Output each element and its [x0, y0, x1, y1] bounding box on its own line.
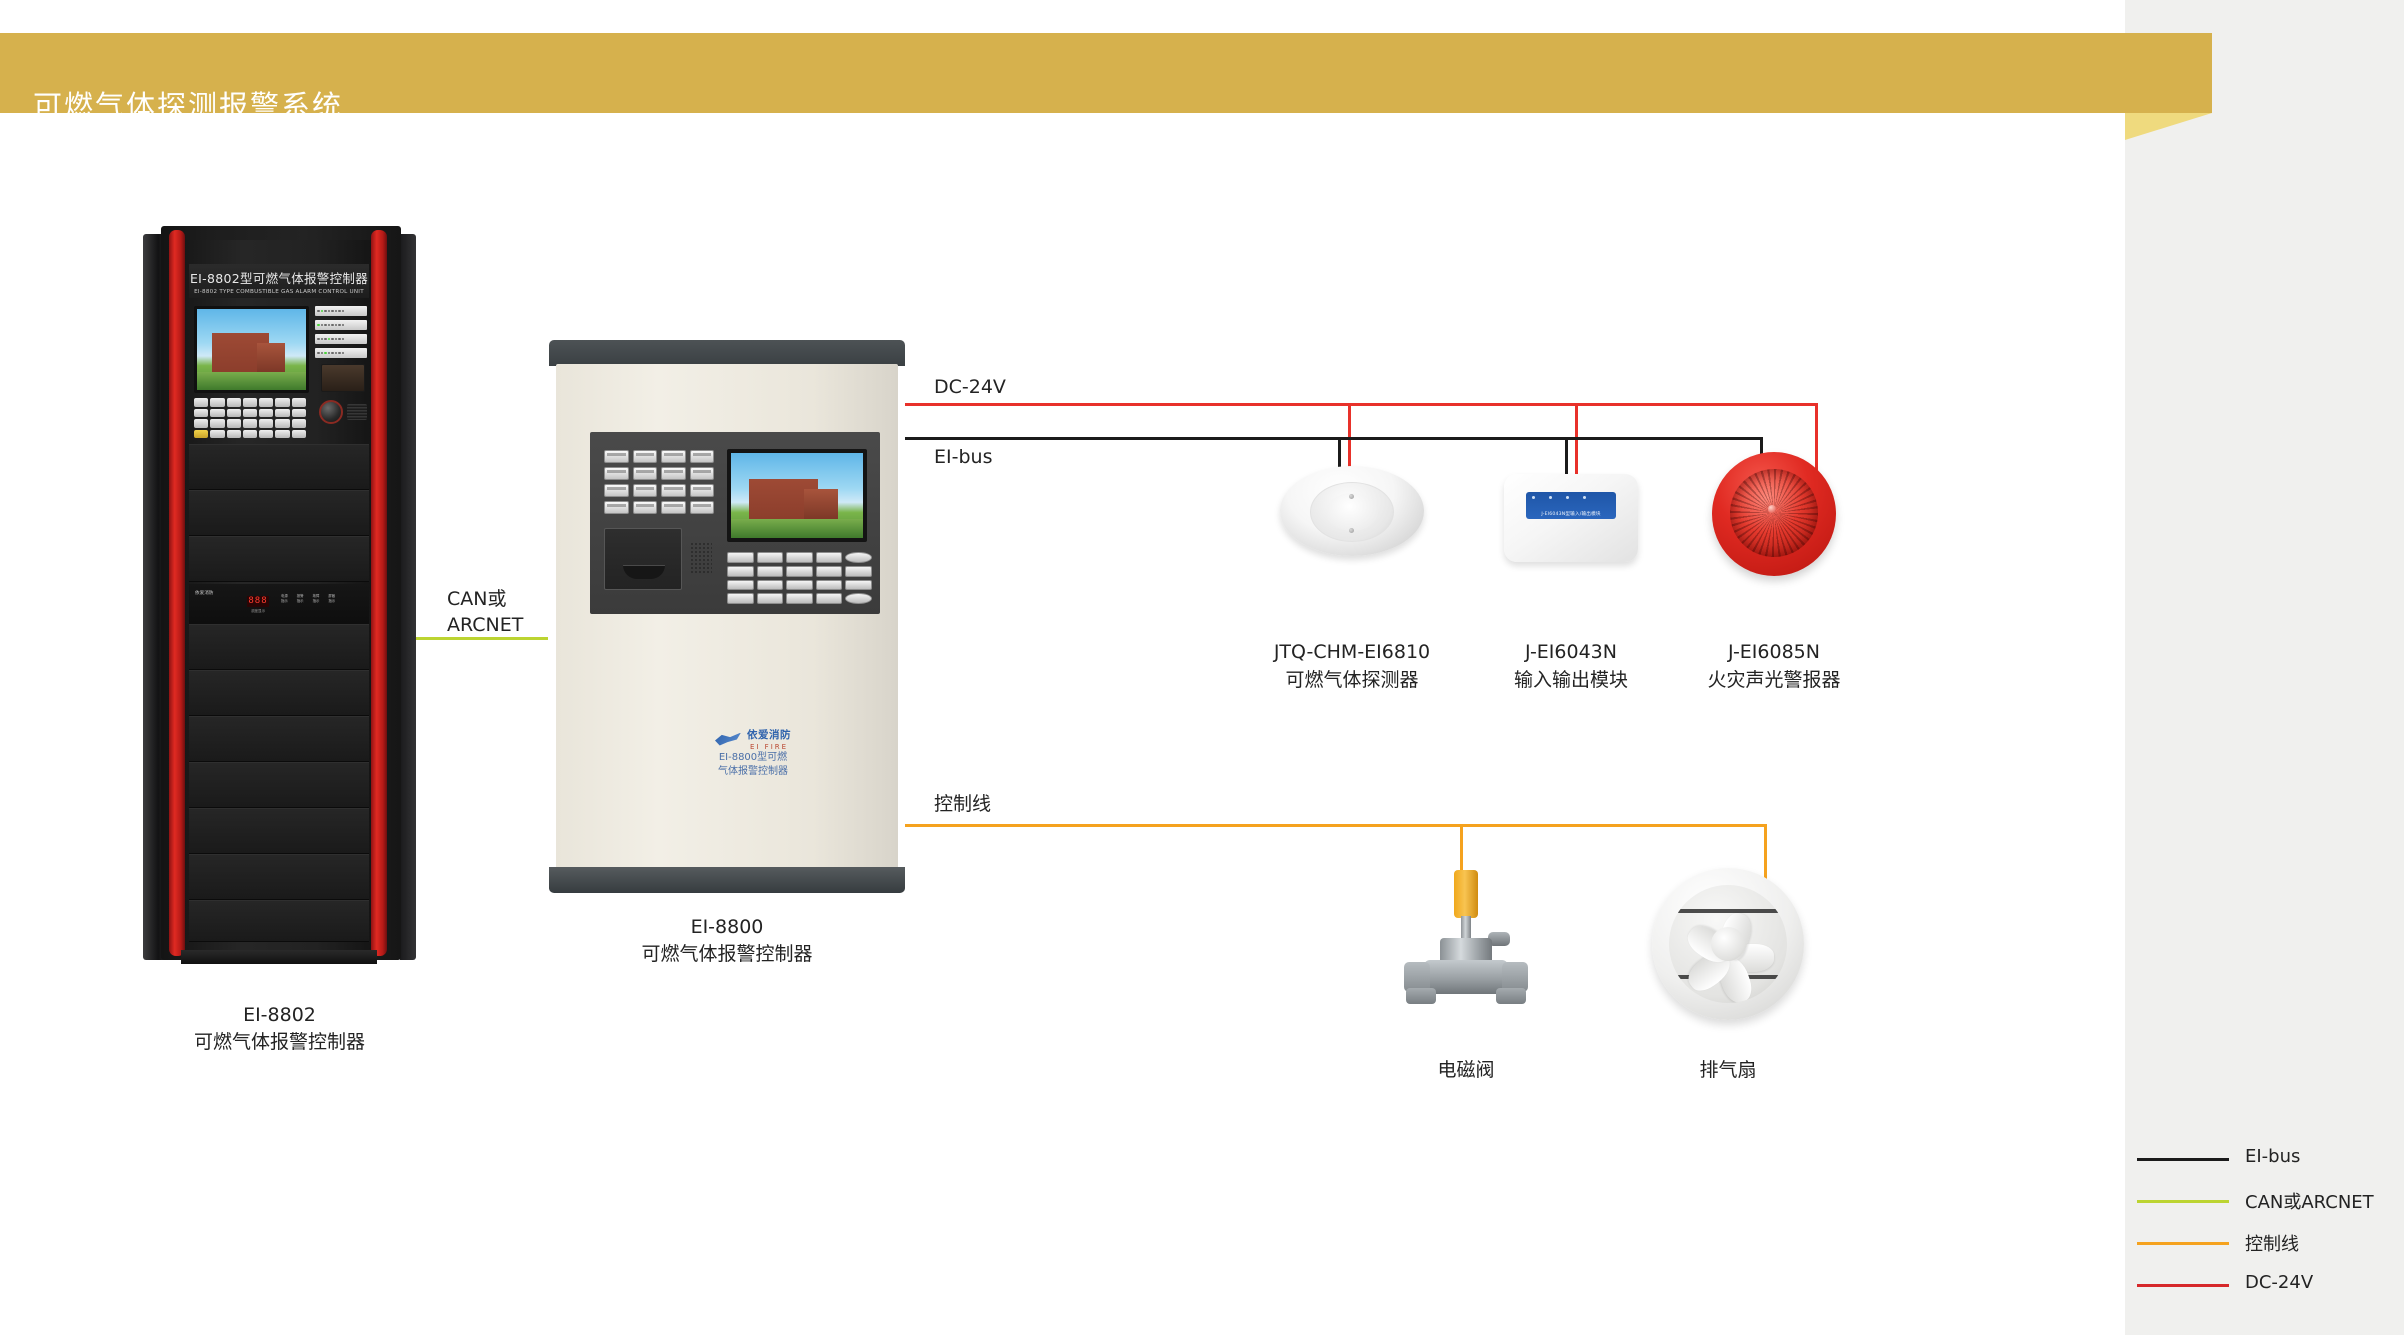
device-solenoid-valve[interactable] — [1398, 870, 1534, 1016]
banner-fold — [2125, 113, 2212, 140]
legend-item-control: 控制线 — [2137, 1224, 2387, 1266]
alarm-lens-center — [1768, 505, 1776, 513]
legend-label-eibus: EI-bus — [2245, 1146, 2300, 1167]
io-module-label: J-EI6043N型输入/输出模块 — [1526, 492, 1616, 519]
wire-label-eibus: EI-bus — [934, 444, 992, 470]
cabinet-indicator-panel — [315, 306, 367, 358]
fan-hub — [1711, 927, 1745, 961]
cabinet-blank-panels — [189, 444, 369, 942]
lcd-grass — [731, 519, 863, 538]
lcd-building-secondary — [804, 489, 838, 520]
unit-model-line2: 气体报警控制器 — [688, 765, 818, 779]
legend-swatch-control — [2137, 1242, 2229, 1245]
unit-zone-button-matrix[interactable] — [604, 450, 714, 514]
valve-foot — [1406, 988, 1436, 1004]
unit-printer[interactable] — [604, 528, 682, 590]
label-ei8800-name: 可燃气体报警控制器 — [546, 939, 908, 970]
unit-model-line1: EI-8800型可燃 — [688, 751, 818, 765]
label-ei8802-name: 可燃气体报警控制器 — [143, 1027, 416, 1058]
device-exhaust-fan[interactable] — [1652, 868, 1804, 1020]
brand-name-en: EI FIRE — [747, 743, 791, 751]
device-ei8802-cabinet[interactable]: EI-8802型可燃气体报警控制器 EI-8802 TYPE COMBUSTIB… — [143, 226, 416, 964]
legend-label-control: 控制线 — [2245, 1230, 2299, 1256]
cabinet-red-strip-left — [169, 230, 185, 956]
diagram-canvas: 可燃气体探测报警系统 EI-8802型可燃气体报警控制器 EI-8802 TYP… — [0, 0, 2404, 1335]
device-gas-detector[interactable] — [1280, 466, 1424, 562]
cabinet-nameplate-en: EI-8802 TYPE COMBUSTIBLE GAS ALARM CONTR… — [194, 289, 364, 295]
legend-swatch-dc24v — [2137, 1284, 2229, 1287]
indicator-row — [315, 334, 367, 344]
legend-item-eibus: EI-bus — [2137, 1140, 2387, 1182]
detector-screw — [1349, 528, 1354, 533]
segment-display-caption: 浓度显示 — [247, 609, 269, 614]
device-io-module[interactable]: J-EI6043N型输入/输出模块 — [1504, 474, 1638, 562]
valve-foot — [1496, 988, 1526, 1004]
legend-item-can-arcnet: CAN或ARCNET — [2137, 1182, 2387, 1224]
lcd-grass — [197, 372, 306, 390]
unit-brand-logo: 依爱消防 EI FIRE EI-8800型可燃 气体报警控制器 — [688, 727, 818, 779]
header-banner: 可燃气体探测报警系统 — [0, 33, 2212, 113]
lcd-image — [731, 453, 863, 538]
detector-screw — [1349, 494, 1354, 499]
label-gas-detector-model: JTQ-CHM-EI6810 — [1232, 637, 1472, 668]
cabinet-red-strip-right — [371, 230, 387, 956]
label-alarm-model: J-EI6085N — [1654, 637, 1894, 668]
page-title: 可燃气体探测报警系统 — [33, 83, 343, 125]
unit-top-cap — [549, 340, 905, 366]
wire-label-dc24v: DC-24V — [934, 374, 1006, 400]
label-solenoid-valve: 电磁阀 — [1346, 1055, 1586, 1086]
cabinet-concentration-display: 依爱消防 888 浓度显示 电源指示 报警指示 故障指示 屏蔽指示 — [189, 584, 369, 624]
ei-fire-logo-icon — [715, 733, 741, 746]
wire-eibus-trunk — [905, 437, 1762, 440]
indicator-row — [315, 348, 367, 358]
printer-slot — [623, 565, 665, 579]
fan-inner — [1669, 885, 1787, 1003]
io-module-indicators — [1532, 496, 1586, 499]
legend-item-dc24v: DC-24V — [2137, 1266, 2387, 1308]
cabinet-side-logo: 依爱消防 — [195, 590, 213, 596]
cabinet-nameplate: EI-8802型可燃气体报警控制器 EI-8802 TYPE COMBUSTIB… — [189, 264, 369, 298]
speaker-grille-icon — [347, 404, 367, 420]
wire-label-can-line1: CAN或 — [447, 586, 506, 612]
unit-control-panel[interactable] — [590, 432, 880, 614]
unit-keypad[interactable] — [727, 552, 872, 604]
legend-swatch-can-arcnet — [2137, 1200, 2229, 1203]
cabinet-keypad[interactable] — [194, 398, 306, 438]
cabinet-rotary-knob[interactable] — [319, 400, 343, 424]
cabinet-nameplate-cn: EI-8802型可燃气体报警控制器 — [190, 268, 368, 287]
valve-coil — [1454, 870, 1478, 918]
alarm-lens — [1730, 469, 1818, 557]
legend-label-dc24v: DC-24V — [2245, 1272, 2313, 1293]
unit-lcd-screen[interactable] — [727, 449, 867, 542]
label-exhaust-fan: 排气扇 — [1608, 1055, 1848, 1086]
cabinet-led-group: 电源指示 报警指示 故障指示 屏蔽指示 — [281, 594, 335, 604]
cabinet-base — [181, 950, 377, 964]
cabinet-lcd-screen[interactable] — [194, 306, 309, 393]
legend-label-can-arcnet: CAN或ARCNET — [2245, 1188, 2374, 1214]
lcd-image — [197, 309, 306, 390]
legend: EI-bus CAN或ARCNET 控制线 DC-24V — [2137, 1140, 2387, 1308]
wire-label-control: 控制线 — [934, 791, 991, 817]
wire-label-can-line2: ARCNET — [447, 612, 523, 638]
cabinet-sub-display — [321, 364, 365, 392]
lcd-building-secondary — [257, 343, 285, 372]
unit-bottom-cap — [549, 867, 905, 893]
valve-body — [1424, 960, 1508, 994]
device-ei8800-controller[interactable]: 依爱消防 EI FIRE EI-8800型可燃 气体报警控制器 — [546, 340, 908, 895]
indicator-row — [315, 306, 367, 316]
io-module-label-text: J-EI6043N型输入/输出模块 — [1541, 511, 1600, 517]
segment-display-value: 888 — [247, 596, 269, 607]
wire-dc24v-trunk — [905, 403, 1818, 406]
legend-swatch-eibus — [2137, 1158, 2229, 1161]
wire-control-trunk — [905, 824, 1767, 827]
device-sound-light-alarm[interactable] — [1712, 452, 1836, 576]
speaker-grille-icon — [690, 542, 712, 574]
brand-name-cn: 依爱消防 — [747, 727, 791, 742]
cabinet-right-side — [400, 234, 416, 960]
indicator-row — [315, 320, 367, 330]
label-alarm-name: 火灾声光警报器 — [1654, 665, 1894, 696]
label-gas-detector-name: 可燃气体探测器 — [1232, 665, 1472, 696]
